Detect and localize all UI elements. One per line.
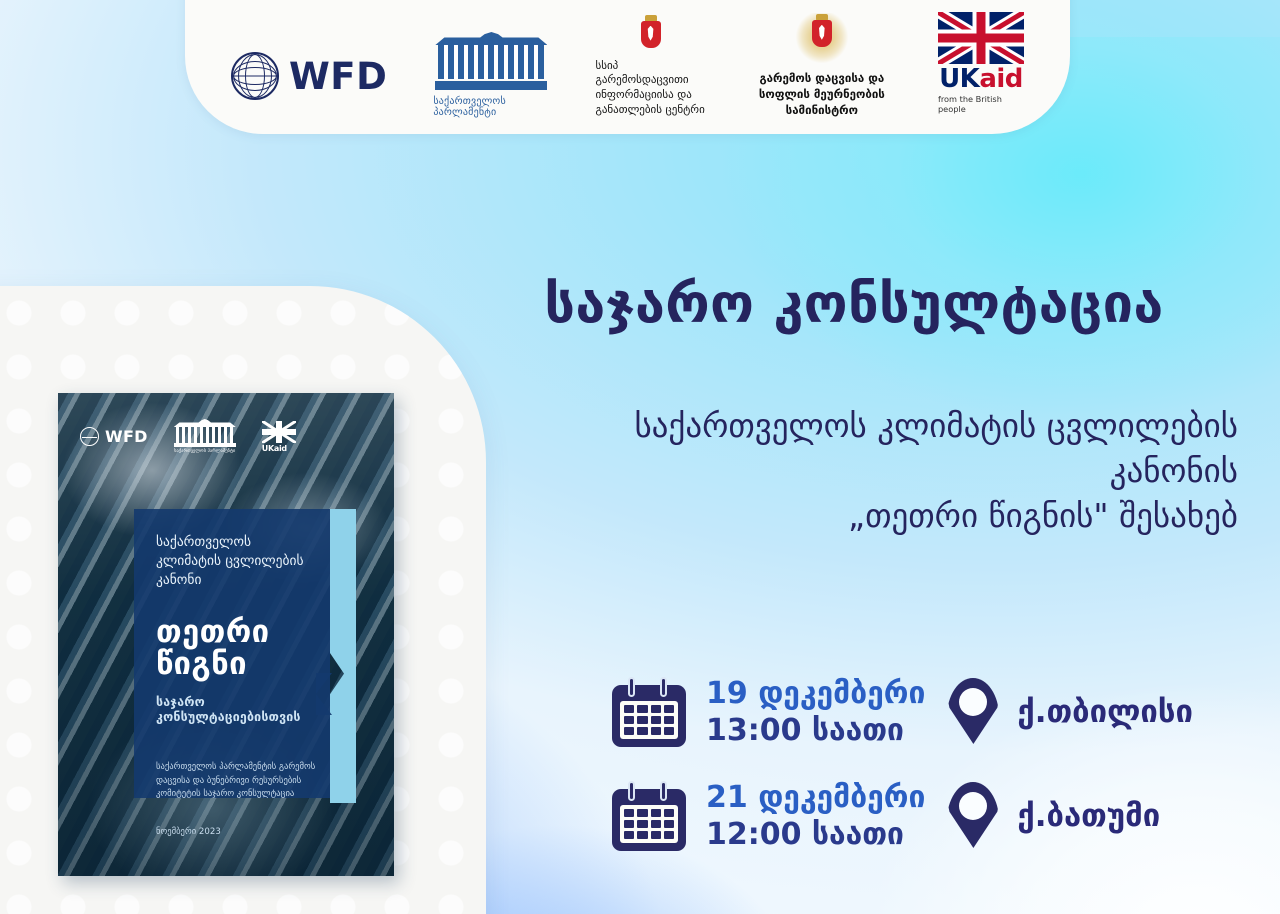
book-description: საქართველოს პარლამენტის გარემოს დაცვისა …: [156, 761, 316, 802]
logo-banner: WFD საქართველოს პარლამენტი სსიპ გარემოსდ…: [185, 0, 1070, 134]
event-location: ქ.თბილისი: [1017, 694, 1193, 730]
location-pin-icon: [947, 782, 999, 850]
ukaid-wordmark: UKaid: [939, 66, 1023, 92]
logo-banner-inner: WFD საქართველოს პარლამენტი სსიპ გარემოსდ…: [185, 12, 1070, 122]
globe-icon: [80, 427, 99, 446]
parliament-building-icon: [174, 419, 236, 427]
ukaid-tagline: from the British people: [938, 94, 1024, 114]
book-ukaid-logo: UKaid: [262, 421, 296, 453]
event-date: 21 დეკემბერი: [706, 779, 925, 816]
event-datetime: 21 დეკემბერი 12:00 საათი: [706, 779, 925, 853]
georgia-crest-icon: [638, 15, 664, 53]
subtitle-line-2: კანონის: [470, 449, 1238, 494]
union-jack-icon: [938, 12, 1024, 64]
ukaid-logo: UKaid from the British people: [938, 12, 1024, 118]
event-datetime: 19 დეკემბერი 13:00 საათი: [706, 675, 925, 749]
book-cover-logos: WFD საქართველოს პარლამენტი UKaid: [80, 419, 376, 454]
book-parliament-caption: საქართველოს პარლამენტი: [174, 449, 236, 454]
book-cover-image: WFD საქართველოს პარლამენტი UKaid საქართვ…: [58, 393, 394, 876]
events-list: 19 დეკემბერი 13:00 საათი ქ.თბილისი 21 დე…: [612, 660, 1193, 868]
book-cover-cyan-tab: [330, 509, 356, 803]
ministry-environment-caption: გარემოს დაცვისა და სოფლის მეურნეობის სამ…: [752, 70, 892, 118]
book-wfd-logo: WFD: [80, 427, 148, 446]
event-date: 19 დეკემბერი: [706, 675, 925, 712]
book-cover-text-panel: საქართველოს კლიმატის ცვლილების კანონი თე…: [134, 509, 330, 798]
event-row: 19 დეკემბერი 13:00 საათი ქ.თბილისი: [612, 660, 1193, 764]
wfd-logo-text: WFD: [289, 55, 387, 98]
subtitle-line-1: საქართველოს კლიმატის ცვლილების: [470, 404, 1238, 449]
georgia-state-crest-icon: [790, 13, 854, 65]
page-title: საჯარო კონსულტაცია: [470, 272, 1238, 335]
book-wfd-text: WFD: [105, 427, 148, 446]
book-for-line: საჯარო კონსულტაციებისთვის: [156, 695, 320, 724]
book-parliament-logo: საქართველოს პარლამენტი: [174, 419, 236, 454]
book-date: ნოემბერი 2023: [156, 827, 221, 837]
ministry-environment-logo: გარემოს დაცვისა და სოფლის მეურნეობის სამ…: [752, 13, 892, 118]
calendar-icon: [612, 677, 686, 747]
csdi-caption: სსიპ გარემოსდაცვითი ინფორმაციისა და განა…: [595, 59, 705, 118]
wfd-logo: WFD: [231, 52, 387, 118]
ukaid-aid-text: aid: [979, 64, 1023, 94]
poster-canvas: WFD საქართველოს პარლამენტი სსიპ გარემოსდ…: [0, 0, 1280, 914]
ukaid-uk-text: UK: [939, 64, 979, 94]
calendar-icon: [612, 781, 686, 851]
union-jack-icon: [262, 421, 296, 443]
event-time: 13:00 საათი: [706, 712, 925, 749]
parliament-building-icon: [435, 32, 547, 90]
event-location: ქ.ბათუმი: [1017, 798, 1160, 834]
page-subtitle: საქართველოს კლიმატის ცვლილების კანონის „…: [470, 404, 1238, 539]
book-subtitle: საქართველოს კლიმატის ცვლილების კანონი: [156, 533, 316, 590]
subtitle-line-3: „თეთრი წიგნის" შესახებ: [470, 494, 1238, 539]
event-time: 12:00 საათი: [706, 816, 925, 853]
book-title: თეთრი წიგნი: [156, 617, 330, 680]
book-ukaid-text: UKaid: [262, 444, 296, 453]
georgian-parliament-caption: საქართველოს პარლამენტი: [433, 96, 549, 118]
globe-icon: [231, 52, 279, 100]
georgian-parliament-logo: საქართველოს პარლამენტი: [433, 32, 549, 118]
location-pin-icon: [947, 678, 999, 746]
csdi-logo: სსიპ გარემოსდაცვითი ინფორმაციისა და განა…: [595, 15, 705, 118]
event-row: 21 დეკემბერი 12:00 საათი ქ.ბათუმი: [612, 764, 1193, 868]
